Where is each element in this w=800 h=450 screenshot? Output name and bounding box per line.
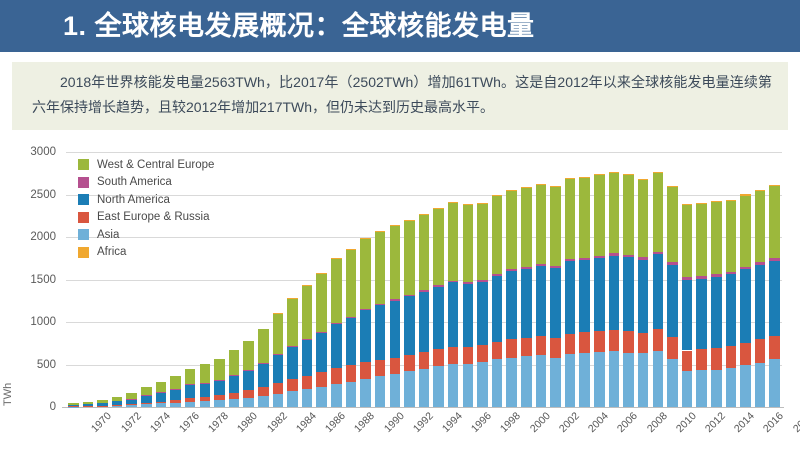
bar-segment bbox=[594, 352, 605, 407]
table-row[interactable] bbox=[769, 185, 780, 407]
table-row[interactable] bbox=[68, 403, 79, 407]
bar-segment bbox=[112, 401, 123, 405]
bar-segment bbox=[623, 255, 634, 257]
description-text: 2018年世界核能发电量2563TWh，比2017年（2502TWh）增加61T… bbox=[32, 70, 772, 120]
bar-segment bbox=[390, 301, 401, 358]
bar-segment bbox=[506, 190, 517, 191]
bar-segment bbox=[740, 194, 751, 195]
table-row[interactable] bbox=[579, 177, 590, 407]
x-tick-label: 2012 bbox=[703, 410, 728, 435]
bar-segment bbox=[214, 380, 225, 395]
bar-segment bbox=[68, 405, 79, 406]
bar-segment bbox=[83, 402, 94, 404]
bar-segment bbox=[623, 175, 634, 255]
bar-segment bbox=[696, 370, 707, 407]
bar-segment bbox=[170, 376, 181, 389]
bar-segment bbox=[419, 292, 430, 352]
bar-segment bbox=[638, 260, 649, 333]
bar-segment bbox=[711, 348, 722, 370]
bar-segment bbox=[273, 394, 284, 407]
bar-segment bbox=[492, 195, 503, 196]
bar-segment bbox=[331, 259, 342, 323]
bar-segment bbox=[740, 267, 751, 270]
bar-segment bbox=[536, 266, 547, 336]
bar-segment bbox=[711, 274, 722, 277]
bar-segment bbox=[667, 187, 678, 262]
bar-segment bbox=[390, 358, 401, 374]
bar-segment bbox=[682, 277, 693, 279]
bar-segment bbox=[156, 402, 167, 404]
bar-segment bbox=[755, 191, 766, 262]
bar-segment bbox=[638, 353, 649, 407]
bar-segment bbox=[243, 390, 254, 398]
bar-segment bbox=[112, 405, 123, 406]
bar-segment bbox=[83, 404, 94, 406]
x-tick-label: 1996 bbox=[469, 410, 494, 435]
bar-segment bbox=[258, 329, 269, 363]
bar-segment bbox=[448, 364, 459, 407]
table-row[interactable] bbox=[346, 248, 357, 407]
bar-segment bbox=[623, 331, 634, 352]
page-title: 1. 全球核电发展概况：全球核能发电量 bbox=[63, 9, 535, 43]
legend-swatch-icon bbox=[78, 229, 89, 240]
bar-segment bbox=[579, 178, 590, 257]
bar-segment bbox=[740, 269, 751, 343]
bar-segment bbox=[696, 204, 707, 276]
bar-segment bbox=[492, 359, 503, 407]
bar-segment bbox=[331, 384, 342, 407]
bar-segment bbox=[83, 406, 94, 407]
bar-segment bbox=[287, 298, 298, 299]
bar-segment bbox=[200, 383, 211, 397]
bar-segment bbox=[141, 395, 152, 402]
bar-segment bbox=[769, 336, 780, 360]
table-row[interactable] bbox=[302, 285, 313, 407]
bar-segment bbox=[126, 405, 137, 407]
legend-item-label: West & Central Europe bbox=[97, 159, 214, 171]
bar-segment bbox=[536, 264, 547, 266]
bar-segment bbox=[287, 379, 298, 391]
table-row[interactable] bbox=[477, 203, 488, 407]
table-row[interactable] bbox=[711, 201, 722, 407]
bar-segment bbox=[696, 203, 707, 204]
bar-segment bbox=[506, 339, 517, 357]
table-row[interactable] bbox=[492, 195, 503, 407]
bar-segment bbox=[243, 398, 254, 407]
bar-segment bbox=[375, 231, 386, 232]
bar-segment bbox=[97, 406, 108, 407]
bar-segment bbox=[653, 329, 664, 351]
bar-segment bbox=[594, 174, 605, 175]
legend-item-label: East Europe & Russia bbox=[97, 211, 210, 223]
bar-segment bbox=[258, 387, 269, 396]
legend-item[interactable]: North America bbox=[78, 191, 214, 209]
bar-segment bbox=[419, 352, 430, 369]
x-tick-label: 2002 bbox=[557, 410, 582, 435]
x-tick-label: 1990 bbox=[381, 410, 406, 435]
bar-segment bbox=[769, 261, 780, 336]
bar-segment bbox=[506, 269, 517, 271]
table-row[interactable] bbox=[682, 204, 693, 407]
table-row[interactable] bbox=[229, 350, 240, 407]
bar-segment bbox=[477, 280, 488, 282]
bar-segment bbox=[390, 374, 401, 407]
bar-segment bbox=[477, 362, 488, 407]
bar-segment bbox=[97, 400, 108, 403]
x-tick-label: 1978 bbox=[206, 410, 231, 435]
bar-segment bbox=[258, 396, 269, 407]
bar-segment bbox=[360, 238, 371, 239]
bar-segment bbox=[185, 369, 196, 385]
bar-segment bbox=[243, 370, 254, 371]
x-tick-label: 1998 bbox=[498, 410, 523, 435]
bar-segment bbox=[667, 186, 678, 187]
bar-segment bbox=[360, 310, 371, 362]
bar-segment bbox=[492, 274, 503, 276]
table-row[interactable] bbox=[83, 402, 94, 407]
bar-segment bbox=[536, 336, 547, 355]
bar-segment bbox=[711, 202, 722, 274]
bar-segment bbox=[68, 403, 79, 405]
bar-segment bbox=[346, 382, 357, 407]
y-tick-label: 0 bbox=[10, 401, 56, 413]
bar-segment bbox=[433, 366, 444, 407]
bar-segment bbox=[375, 232, 386, 304]
legend-item[interactable]: Africa bbox=[78, 244, 214, 262]
x-tick-label: 2010 bbox=[674, 410, 699, 435]
table-row[interactable] bbox=[653, 172, 664, 407]
bar-segment bbox=[594, 256, 605, 258]
table-row[interactable] bbox=[667, 186, 678, 407]
bar-segment bbox=[404, 355, 415, 372]
table-row[interactable] bbox=[550, 186, 561, 407]
bar-segment bbox=[609, 253, 620, 255]
bar-segment bbox=[375, 376, 386, 407]
chart-legend: West & Central EuropeSouth AmericaNorth … bbox=[78, 156, 214, 261]
bar-segment bbox=[740, 343, 751, 366]
bar-segment bbox=[141, 404, 152, 407]
y-tick-label: 1000 bbox=[10, 316, 56, 328]
bar-segment bbox=[316, 372, 327, 387]
bar-segment bbox=[536, 355, 547, 407]
bar-segment bbox=[565, 259, 576, 261]
bar-segment bbox=[711, 370, 722, 407]
bar-segment bbox=[609, 351, 620, 407]
bar-segment bbox=[550, 268, 561, 338]
table-row[interactable] bbox=[419, 214, 430, 407]
bar-segment bbox=[623, 257, 634, 331]
bar-segment bbox=[565, 261, 576, 334]
bar-segment bbox=[214, 359, 225, 380]
bar-segment bbox=[755, 339, 766, 362]
bar-segment bbox=[316, 273, 327, 332]
bar-segment bbox=[521, 187, 532, 188]
bar-segment bbox=[346, 318, 357, 366]
bar-segment bbox=[404, 296, 415, 355]
bar-segment bbox=[711, 201, 722, 202]
bar-segment bbox=[594, 331, 605, 352]
bar-segment bbox=[448, 202, 459, 203]
x-tick-label: 2014 bbox=[732, 410, 757, 435]
table-row[interactable] bbox=[97, 400, 108, 407]
bar-segment bbox=[609, 256, 620, 330]
table-row[interactable] bbox=[243, 341, 254, 407]
table-row[interactable] bbox=[185, 369, 196, 407]
legend-swatch-icon bbox=[78, 212, 89, 223]
table-row[interactable] bbox=[536, 184, 547, 407]
bar-segment bbox=[141, 403, 152, 404]
legend-item[interactable]: West & Central Europe bbox=[78, 156, 214, 174]
bar-segment bbox=[521, 338, 532, 357]
table-row[interactable] bbox=[594, 174, 605, 407]
bar-segment bbox=[550, 338, 561, 358]
bar-segment bbox=[682, 371, 693, 407]
chart-container: TWh 050010001500200025003000 19701972197… bbox=[0, 138, 800, 450]
table-row[interactable] bbox=[316, 273, 327, 407]
bar-segment bbox=[755, 190, 766, 191]
x-tick-label: 1986 bbox=[323, 410, 348, 435]
bar-segment bbox=[258, 363, 269, 364]
table-row[interactable] bbox=[565, 178, 576, 407]
bar-segment bbox=[667, 265, 678, 337]
bar-segment bbox=[243, 370, 254, 390]
bar-segment bbox=[156, 382, 167, 392]
bar-segment bbox=[696, 279, 707, 350]
table-row[interactable] bbox=[390, 225, 401, 407]
bar-segment bbox=[521, 267, 532, 269]
table-row[interactable] bbox=[463, 204, 474, 407]
table-row[interactable] bbox=[433, 208, 444, 407]
table-row[interactable] bbox=[609, 172, 620, 407]
y-tick-label: 2000 bbox=[10, 231, 56, 243]
bar-segment bbox=[433, 209, 444, 286]
table-row[interactable] bbox=[638, 179, 649, 407]
bar-segment bbox=[463, 347, 474, 364]
bar-segment bbox=[273, 383, 284, 394]
bar-segment bbox=[594, 175, 605, 255]
bar-segment bbox=[156, 392, 167, 401]
table-row[interactable] bbox=[755, 190, 766, 407]
bar-segment bbox=[769, 185, 780, 186]
bar-segment bbox=[682, 280, 693, 351]
bar-segment bbox=[331, 368, 342, 384]
bar-segment bbox=[200, 401, 211, 407]
table-row[interactable] bbox=[258, 329, 269, 407]
legend-item[interactable]: East Europe & Russia bbox=[78, 209, 214, 227]
x-tick-label: 1976 bbox=[177, 410, 202, 435]
bar-segment bbox=[740, 196, 751, 267]
bar-segment bbox=[755, 262, 766, 265]
bar-segment bbox=[536, 185, 547, 264]
table-row[interactable] bbox=[287, 298, 298, 407]
bar-segment bbox=[126, 393, 137, 399]
bar-segment bbox=[609, 330, 620, 351]
bar-segment bbox=[726, 200, 737, 271]
bar-segment bbox=[667, 262, 678, 264]
bar-segment bbox=[638, 179, 649, 180]
table-row[interactable] bbox=[404, 220, 415, 407]
y-tick-label: 2500 bbox=[10, 189, 56, 201]
legend-swatch-icon bbox=[78, 159, 89, 170]
bar-segment bbox=[302, 376, 313, 390]
bar-segment bbox=[550, 266, 561, 268]
bar-segment bbox=[521, 269, 532, 338]
table-row[interactable] bbox=[696, 203, 707, 407]
bar-segment bbox=[653, 252, 664, 254]
bar-segment bbox=[711, 277, 722, 348]
table-row[interactable] bbox=[623, 174, 634, 407]
table-row[interactable] bbox=[726, 200, 737, 407]
bar-segment bbox=[726, 368, 737, 407]
table-row[interactable] bbox=[126, 393, 137, 407]
table-row[interactable] bbox=[141, 387, 152, 407]
bar-segment bbox=[463, 204, 474, 205]
bar-segment bbox=[506, 271, 517, 339]
bar-segment bbox=[433, 349, 444, 366]
bar-segment bbox=[536, 184, 547, 185]
bar-segment bbox=[185, 385, 196, 399]
bar-segment bbox=[360, 239, 371, 309]
bar-segment bbox=[375, 305, 386, 359]
table-row[interactable] bbox=[214, 359, 225, 407]
table-row[interactable] bbox=[448, 202, 459, 407]
bar-segment bbox=[316, 273, 327, 274]
bar-segment bbox=[726, 346, 737, 368]
bar-segment bbox=[200, 397, 211, 401]
bar-segment bbox=[565, 334, 576, 354]
bar-segment bbox=[550, 187, 561, 266]
bar-segment bbox=[287, 391, 298, 407]
bar-segment bbox=[404, 371, 415, 407]
x-tick-label: 1974 bbox=[148, 410, 173, 435]
bar-segment bbox=[346, 365, 357, 382]
bar-segment bbox=[463, 284, 474, 347]
bar-segment bbox=[331, 324, 342, 368]
bar-segment bbox=[755, 265, 766, 339]
x-tick-label: 2004 bbox=[586, 410, 611, 435]
bar-segment bbox=[579, 332, 590, 352]
bar-segment bbox=[404, 220, 415, 221]
bar-segment bbox=[740, 365, 751, 407]
bar-segment bbox=[579, 258, 590, 260]
table-row[interactable] bbox=[506, 190, 517, 407]
bar-segment bbox=[653, 254, 664, 329]
bar-segment bbox=[448, 281, 459, 283]
table-row[interactable] bbox=[200, 364, 211, 407]
bar-segment bbox=[214, 395, 225, 400]
x-tick-label: 1984 bbox=[294, 410, 319, 435]
bar-segment bbox=[200, 364, 211, 382]
bar-segment bbox=[419, 369, 430, 407]
bar-segment bbox=[390, 299, 401, 300]
description-box: 2018年世界核能发电量2563TWh，比2017年（2502TWh）增加61T… bbox=[12, 62, 788, 130]
bar-segment bbox=[316, 332, 327, 333]
bar-segment bbox=[579, 177, 590, 178]
x-tick-label: 2006 bbox=[615, 410, 640, 435]
bar-segment bbox=[769, 359, 780, 407]
bar-segment bbox=[360, 379, 371, 407]
bar-segment bbox=[316, 333, 327, 372]
y-tick-label: 3000 bbox=[10, 146, 56, 158]
x-tick-label: 2016 bbox=[761, 410, 786, 435]
bar-segment bbox=[360, 309, 371, 310]
bar-segment bbox=[273, 314, 284, 355]
table-row[interactable] bbox=[521, 187, 532, 407]
bar-segment bbox=[390, 226, 401, 299]
y-tick-label: 500 bbox=[10, 359, 56, 371]
x-axis-line bbox=[62, 407, 784, 408]
bar-segment bbox=[287, 347, 298, 379]
bar-segment bbox=[185, 398, 196, 401]
bar-segment bbox=[346, 249, 357, 316]
table-row[interactable] bbox=[740, 194, 751, 407]
bar-segment bbox=[463, 282, 474, 284]
bar-segment bbox=[492, 342, 503, 359]
bar-segment bbox=[726, 200, 737, 201]
bar-segment bbox=[433, 208, 444, 209]
bar-segment bbox=[112, 397, 123, 401]
bar-segment bbox=[346, 249, 357, 250]
bar-segment bbox=[609, 173, 620, 254]
table-row[interactable] bbox=[156, 382, 167, 407]
bar-segment bbox=[638, 180, 649, 257]
legend-item-label: Asia bbox=[97, 229, 119, 241]
bar-segment bbox=[214, 400, 225, 407]
bar-segment bbox=[492, 276, 503, 342]
table-row[interactable] bbox=[331, 258, 342, 407]
bar-segment bbox=[287, 346, 298, 347]
bar-segment bbox=[521, 188, 532, 267]
x-tick-label: 1992 bbox=[411, 410, 436, 435]
bar-segment bbox=[579, 260, 590, 332]
bar-segment bbox=[433, 287, 444, 349]
bar-segment bbox=[653, 351, 664, 407]
bar-segment bbox=[653, 173, 664, 252]
bar-segment bbox=[419, 215, 430, 290]
bar-segment bbox=[550, 358, 561, 407]
bar-segment bbox=[433, 285, 444, 287]
x-tick-label: 1982 bbox=[264, 410, 289, 435]
y-tick-label: 1500 bbox=[10, 274, 56, 286]
bar-segment bbox=[579, 353, 590, 407]
x-tick-label: 2008 bbox=[644, 410, 669, 435]
legend-item[interactable]: South America bbox=[78, 174, 214, 192]
bar-segment bbox=[375, 304, 386, 305]
table-row[interactable] bbox=[273, 313, 284, 407]
table-row[interactable] bbox=[112, 397, 123, 407]
table-row[interactable] bbox=[360, 238, 371, 407]
bar-segment bbox=[565, 354, 576, 407]
legend-item[interactable]: Asia bbox=[78, 226, 214, 244]
table-row[interactable] bbox=[375, 231, 386, 407]
bar-segment bbox=[229, 399, 240, 407]
bar-segment bbox=[638, 333, 649, 354]
bar-segment bbox=[565, 178, 576, 179]
bar-segment bbox=[521, 356, 532, 407]
table-row[interactable] bbox=[170, 376, 181, 407]
bar-segment bbox=[404, 221, 415, 295]
bar-segment bbox=[302, 285, 313, 286]
bar-segment bbox=[463, 205, 474, 282]
bar-segment bbox=[696, 276, 707, 278]
bar-segment bbox=[448, 347, 459, 364]
x-tick-label: 1980 bbox=[235, 410, 260, 435]
bar-segment bbox=[390, 225, 401, 226]
legend-swatch-icon bbox=[78, 177, 89, 188]
bar-segment bbox=[638, 257, 649, 259]
bar-segment bbox=[419, 214, 430, 215]
x-tick-label: 1972 bbox=[118, 410, 143, 435]
